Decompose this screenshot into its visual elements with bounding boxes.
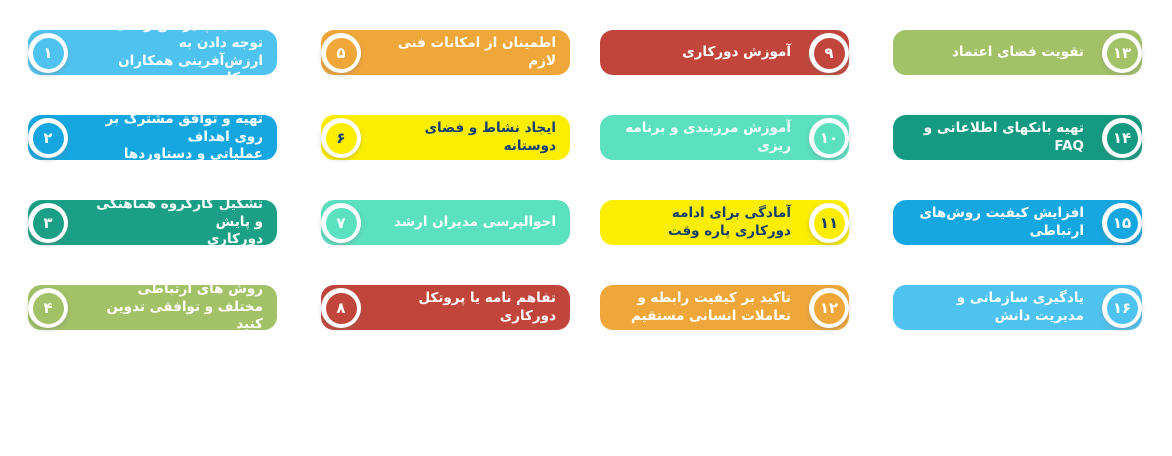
item-number-badge[interactable]: ۱۱: [809, 203, 849, 243]
item-label: تهیه و توافق مشترک بر روی اهداف عملیاتی …: [86, 111, 263, 164]
infographic-item[interactable]: اطمینان از امکانات فنی لازم۵: [293, 0, 586, 85]
item-label: تقویت فضای اعتماد: [907, 44, 1084, 62]
item-label: افزایش کیفیت روش‌های ارتباطی: [907, 205, 1084, 241]
item-label: تشکیل کارگروه هماهنگی و پایش دورکاری: [86, 196, 263, 249]
item-label: آموزش دورکاری: [614, 44, 791, 62]
item-label: تفاهم نامه یا پروتکل دورکاری: [379, 290, 556, 326]
item-number: ۱۶: [1107, 293, 1138, 324]
item-number-badge[interactable]: ۱: [28, 33, 68, 73]
infographic-item[interactable]: افزایش کیفیت روش‌های ارتباطی۱۵: [879, 170, 1172, 255]
item-number: ۱: [33, 38, 64, 69]
item-number-badge[interactable]: ۱۴: [1102, 118, 1142, 158]
item-number-badge[interactable]: ۹: [809, 33, 849, 73]
items-grid: کمک به پذیرفتن واقعیت، توجه دادن به ارزش…: [0, 0, 1172, 370]
item-number: ۷: [326, 208, 357, 239]
item-number: ۱۱: [814, 208, 845, 239]
item-number: ۱۵: [1107, 208, 1138, 239]
item-label: ایجاد نشاط و فضای دوستانه: [379, 120, 556, 156]
item-number-badge[interactable]: ۱۶: [1102, 288, 1142, 328]
item-number-badge[interactable]: ۴: [28, 288, 68, 328]
item-number: ۱۲: [814, 293, 845, 324]
item-label: کمک به پذیرفتن واقعیت، توجه دادن به ارزش…: [86, 17, 263, 87]
item-number: ۴: [33, 293, 64, 324]
infographic-item[interactable]: یادگیری سازمانی و مدیریت دانش۱۶: [879, 255, 1172, 340]
item-number: ۲: [33, 123, 64, 154]
infographic-item[interactable]: آمادگی برای ادامه دورکاری پاره وقت۱۱: [586, 170, 879, 255]
item-number: ۸: [326, 293, 357, 324]
item-number: ۶: [326, 123, 357, 154]
infographic-item[interactable]: تهیه بانکهای اطلاعاتی و FAQ۱۴: [879, 85, 1172, 170]
item-number: ۹: [814, 38, 845, 69]
infographic-board: کمک به پذیرفتن واقعیت، توجه دادن به ارزش…: [0, 0, 1172, 456]
item-number-badge[interactable]: ۸: [321, 288, 361, 328]
infographic-item[interactable]: آموزش دورکاری۹: [586, 0, 879, 85]
item-number-badge[interactable]: ۶: [321, 118, 361, 158]
infographic-item[interactable]: آموزش مرزبندی و برنامه ریزی۱۰: [586, 85, 879, 170]
infographic-item[interactable]: روش های ارتباطی مختلف و توافقی تدوین کنی…: [0, 255, 293, 340]
item-number-badge[interactable]: ۳: [28, 203, 68, 243]
item-label: تاکید بر کیفیت رابطه و تعاملات انسانی مس…: [614, 290, 791, 325]
item-number: ۵: [326, 38, 357, 69]
item-label: اطمینان از امکانات فنی لازم: [379, 35, 556, 71]
infographic-item[interactable]: ایجاد نشاط و فضای دوستانه۶: [293, 85, 586, 170]
item-number-badge[interactable]: ۲: [28, 118, 68, 158]
item-number: ۱۰: [814, 123, 845, 154]
item-label: آمادگی برای ادامه دورکاری پاره وقت: [614, 205, 791, 241]
item-number: ۳: [33, 208, 64, 239]
item-number-badge[interactable]: ۷: [321, 203, 361, 243]
item-number: ۱۴: [1107, 123, 1138, 154]
item-label: روش های ارتباطی مختلف و توافقی تدوین کنی…: [86, 281, 263, 334]
infographic-item[interactable]: تشکیل کارگروه هماهنگی و پایش دورکاری۳: [0, 170, 293, 255]
item-number-badge[interactable]: ۵: [321, 33, 361, 73]
infographic-item[interactable]: احوالپرسی مدیران ارشد۷: [293, 170, 586, 255]
item-number: ۱۳: [1107, 38, 1138, 69]
item-number-badge[interactable]: ۱۲: [809, 288, 849, 328]
infographic-item[interactable]: تقویت فضای اعتماد۱۳: [879, 0, 1172, 85]
infographic-item[interactable]: کمک به پذیرفتن واقعیت، توجه دادن به ارزش…: [0, 0, 293, 85]
item-number-badge[interactable]: ۱۳: [1102, 33, 1142, 73]
item-number-badge[interactable]: ۱۵: [1102, 203, 1142, 243]
infographic-item[interactable]: تهیه و توافق مشترک بر روی اهداف عملیاتی …: [0, 85, 293, 170]
infographic-item[interactable]: تاکید بر کیفیت رابطه و تعاملات انسانی مس…: [586, 255, 879, 340]
item-label: یادگیری سازمانی و مدیریت دانش: [907, 290, 1084, 326]
infographic-item[interactable]: تفاهم نامه یا پروتکل دورکاری۸: [293, 255, 586, 340]
item-label: احوالپرسی مدیران ارشد: [379, 214, 556, 232]
item-number-badge[interactable]: ۱۰: [809, 118, 849, 158]
item-label: تهیه بانکهای اطلاعاتی و FAQ: [907, 120, 1084, 156]
item-label: آموزش مرزبندی و برنامه ریزی: [614, 120, 791, 156]
